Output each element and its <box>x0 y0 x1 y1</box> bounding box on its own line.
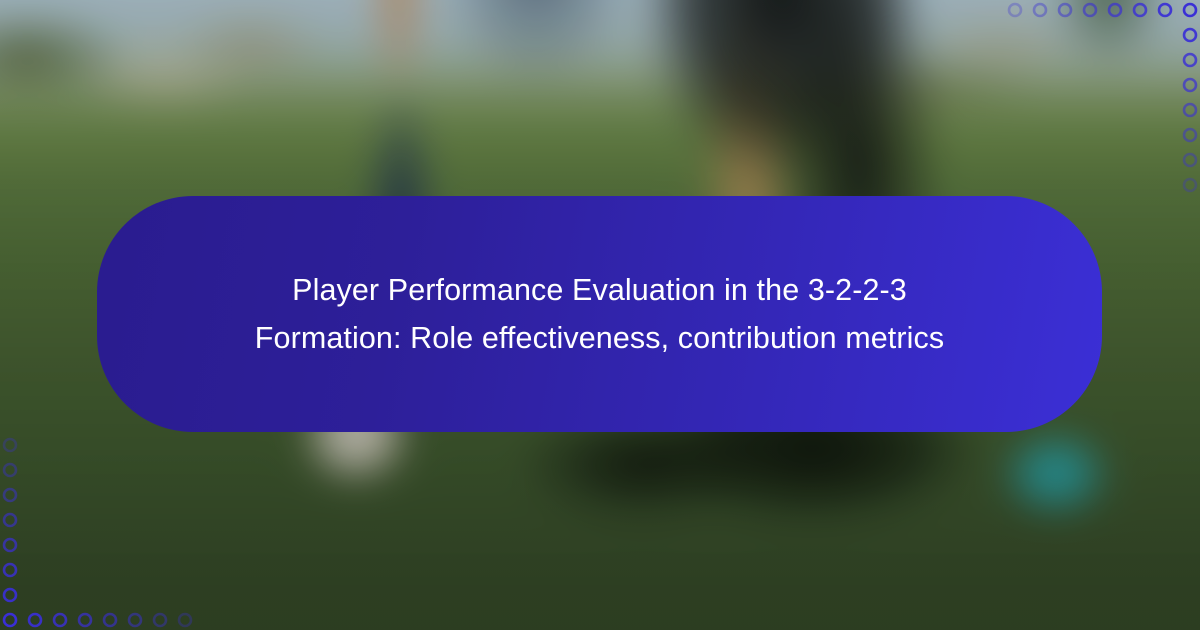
decorative-dot <box>4 514 16 526</box>
decorative-dot <box>1184 79 1196 91</box>
social-card-canvas: Player Performance Evaluation in the 3-2… <box>0 0 1200 630</box>
dot-cluster-top-right <box>1000 0 1200 200</box>
dot-group-top-right <box>1009 4 1196 191</box>
decorative-dot <box>4 589 16 601</box>
decorative-dot <box>4 614 16 626</box>
decorative-dot <box>104 614 116 626</box>
decorative-dot <box>54 614 66 626</box>
decorative-dot <box>1009 4 1021 16</box>
decorative-dot <box>1159 4 1171 16</box>
decorative-dot <box>1184 129 1196 141</box>
decorative-dot <box>1109 4 1121 16</box>
decorative-dot <box>29 614 41 626</box>
decorative-dot <box>129 614 141 626</box>
title-card: Player Performance Evaluation in the 3-2… <box>97 196 1102 432</box>
decorative-dot <box>4 464 16 476</box>
decorative-dot <box>1184 179 1196 191</box>
decorative-dot <box>1184 154 1196 166</box>
page-title-line-1: Player Performance Evaluation in the 3-2… <box>153 266 1046 314</box>
page-title-line-2: Formation: Role effectiveness, contribut… <box>153 314 1046 362</box>
decorative-dot <box>4 564 16 576</box>
decorative-dot <box>154 614 166 626</box>
decorative-dot <box>1184 29 1196 41</box>
decorative-dot <box>4 439 16 451</box>
decorative-dot <box>1184 104 1196 116</box>
page-title: Player Performance Evaluation in the 3-2… <box>153 266 1046 362</box>
decorative-dot <box>179 614 191 626</box>
decorative-dot <box>4 539 16 551</box>
dot-cluster-bottom-left <box>0 430 200 630</box>
decorative-dot <box>4 489 16 501</box>
decorative-dot <box>1184 54 1196 66</box>
decorative-dot <box>1084 4 1096 16</box>
decorative-dot <box>79 614 91 626</box>
dot-group-bottom-left <box>4 439 191 626</box>
decorative-dot <box>1034 4 1046 16</box>
decorative-dot <box>1134 4 1146 16</box>
decorative-dot <box>1059 4 1071 16</box>
decorative-dot <box>1184 4 1196 16</box>
